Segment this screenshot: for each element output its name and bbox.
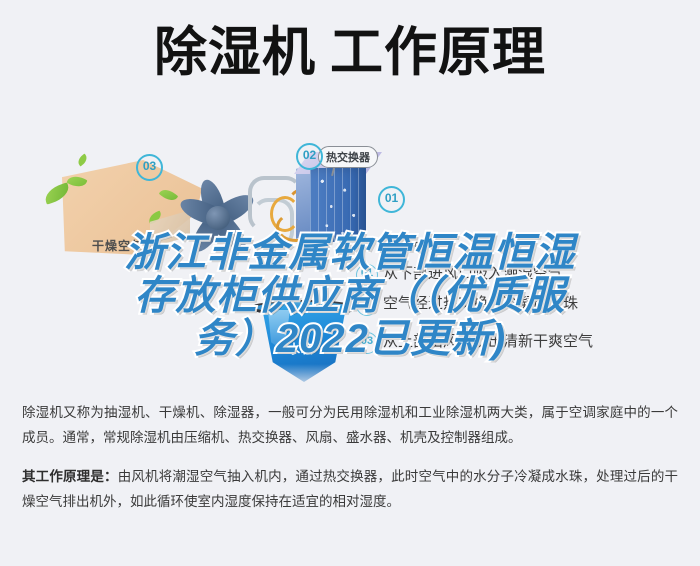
paragraph-2: 其工作原理是：由风机将潮湿空气抽入机内，通过热交换器，此时空气中的水分子冷凝成水… — [22, 464, 678, 514]
step-text-02: 空气经过热交换器冷凝成水珠 — [383, 295, 578, 312]
step-line-01: 01从下部进风口吸入潮湿空气 — [356, 262, 563, 286]
title-part-2: 工作原理 — [330, 23, 546, 82]
dry-air-label: 干燥空气 — [92, 237, 144, 254]
humid-air-swoosh-inner-icon — [405, 140, 515, 235]
step-number-01: 01 — [356, 264, 378, 286]
heat-exchanger-icon — [310, 168, 366, 242]
hero-diagram: 除湿机工作原理 干燥空气 — [0, 0, 700, 400]
paragraph-2-lead: 其工作原理是： — [22, 469, 118, 484]
badge-02: 02 — [296, 143, 323, 170]
step-number-02: 02 — [356, 294, 378, 316]
page-title: 除湿机工作原理 — [0, 22, 700, 84]
step-text-01: 从下部进风口吸入潮湿空气 — [383, 265, 563, 282]
article-body: 除湿机又称为抽湿机、干燥机、除湿器，一般可分为民用除湿机和工业除湿机两大类，属于… — [0, 400, 700, 514]
page-root: 除湿机工作原理 干燥空气 — [0, 0, 700, 566]
humid-air-label: 潮湿空气 — [388, 238, 440, 255]
heat-exchanger-callout: 热交换器 — [318, 146, 378, 168]
title-part-1: 除湿机 — [154, 23, 316, 82]
step-text-03: 从上部出风口吹出清新干爽空气 — [383, 333, 593, 350]
paragraph-1: 除湿机又称为抽湿机、干燥机、除湿器，一般可分为民用除湿机和工业除湿机两大类，属于… — [22, 400, 678, 450]
step-line-03: 03从上部出风口吹出清新干爽空气 — [356, 330, 593, 354]
badge-01: 01 — [378, 186, 405, 213]
badge-03: 03 — [136, 154, 163, 181]
step-line-02: 02空气经过热交换器冷凝成水珠 — [356, 292, 578, 316]
hero-bottom-fade — [0, 364, 700, 400]
paragraph-2-rest: 由风机将潮湿空气抽入机内，通过热交换器，此时空气中的水分子冷凝成水珠，处理过后的… — [22, 469, 678, 509]
leaf-icon — [76, 154, 90, 167]
water-tank-label: 水箱 — [288, 340, 314, 357]
step-number-03: 03 — [356, 332, 378, 354]
